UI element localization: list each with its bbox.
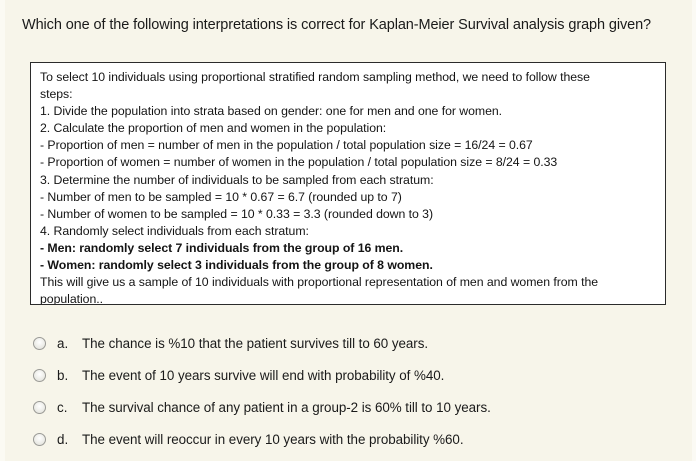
option-letter-c: c. [57, 398, 67, 417]
statement-line: - Proportion of women = number of women … [40, 154, 656, 171]
option-label-b[interactable]: The event of 10 years survive will end w… [82, 366, 444, 385]
statement-line: population.. [40, 291, 656, 305]
option-label-c[interactable]: The survival chance of any patient in a … [82, 398, 491, 417]
option-label-d[interactable]: The event will reoccur in every 10 years… [82, 430, 464, 449]
answer-options-list: a. The chance is %10 that the patient su… [0, 330, 696, 458]
radio-button-d-icon[interactable] [33, 433, 46, 446]
option-letter-a: a. [57, 334, 68, 353]
option-letter-b: b. [57, 366, 68, 385]
question-prompt: Which one of the following interpretatio… [22, 14, 670, 37]
answer-option-d[interactable]: d. The event will reoccur in every 10 ye… [0, 426, 696, 458]
option-letter-d: d. [57, 430, 68, 449]
radio-button-a-icon[interactable] [33, 337, 46, 350]
statement-line: steps: [40, 86, 656, 103]
radio-button-b-icon[interactable] [33, 369, 46, 382]
option-label-a[interactable]: The chance is %10 that the patient survi… [82, 334, 428, 353]
statement-line-men: - Men: randomly select 7 individuals fro… [40, 240, 656, 257]
statement-line-women: - Women: randomly select 3 individuals f… [40, 257, 656, 274]
statement-line: To select 10 individuals using proportio… [40, 69, 656, 86]
statement-line: - Number of women to be sampled = 10 * 0… [40, 206, 656, 223]
statement-line: 4. Randomly select individuals from each… [40, 223, 656, 240]
statement-box: To select 10 individuals using proportio… [30, 62, 666, 305]
statement-line: This will give us a sample of 10 individ… [40, 274, 656, 291]
statement-line: 2. Calculate the proportion of men and w… [40, 120, 656, 137]
statement-line: - Number of men to be sampled = 10 * 0.6… [40, 189, 656, 206]
statement-line: 3. Determine the number of individuals t… [40, 172, 656, 189]
statement-line: - Proportion of men = number of men in t… [40, 137, 656, 154]
statement-line: 1. Divide the population into strata bas… [40, 103, 656, 120]
answer-option-a[interactable]: a. The chance is %10 that the patient su… [0, 330, 696, 362]
radio-button-c-icon[interactable] [33, 401, 46, 414]
answer-option-b[interactable]: b. The event of 10 years survive will en… [0, 362, 696, 394]
answer-option-c[interactable]: c. The survival chance of any patient in… [0, 394, 696, 426]
quiz-question-page: Which one of the following interpretatio… [0, 0, 696, 461]
